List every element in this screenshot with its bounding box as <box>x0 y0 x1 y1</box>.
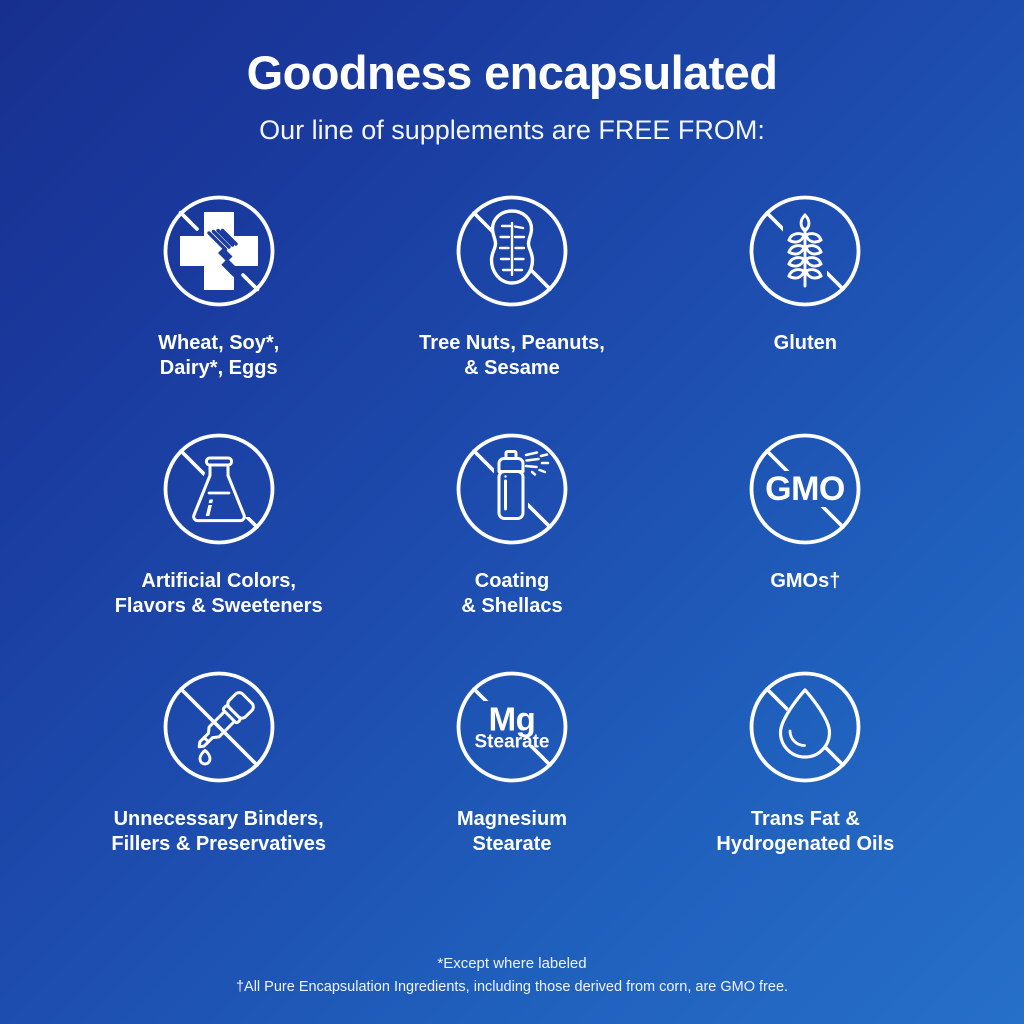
free-from-item-wheat-soy-dairy-eggs: Wheat, Soy*, Dairy*, Eggs <box>72 185 365 423</box>
page-title: Goodness encapsulated <box>0 48 1024 97</box>
free-from-grid: Wheat, Soy*, Dairy*, Eggs <box>72 185 952 899</box>
free-from-item-artificial-colors: Artificial Colors, Flavors & Sweeteners <box>72 423 365 661</box>
free-from-label: Trans Fat & Hydrogenated Oils <box>716 807 894 858</box>
free-from-item-gmos: GMO GMOs† <box>659 423 952 661</box>
free-from-item-tree-nuts-peanuts-sesame: Tree Nuts, Peanuts, & Sesame <box>365 185 658 423</box>
page-subtitle: Our line of supplements are FREE FROM: <box>0 114 1024 146</box>
footnote-asterisk: *Except where labeled <box>0 952 1024 975</box>
poster-root: Goodness encapsulated Our line of supple… <box>0 0 1024 1024</box>
header: Goodness encapsulated Our line of supple… <box>0 0 1024 147</box>
free-from-label: GMOs† <box>770 569 840 595</box>
no-magnesium-stearate-icon: Mg Stearate <box>446 661 578 793</box>
free-from-item-coating-shellacs: Coating & Shellacs <box>365 423 658 661</box>
free-from-label: Artificial Colors, Flavors & Sweeteners <box>115 569 323 620</box>
free-from-label: Wheat, Soy*, Dairy*, Eggs <box>158 331 279 382</box>
footnote-dagger: †All Pure Encapsulation Ingredients, inc… <box>0 976 1024 998</box>
no-fork-cross-icon <box>153 185 285 317</box>
no-spray-can-icon <box>446 423 578 555</box>
no-dropper-icon <box>153 661 285 793</box>
footnotes: *Except where labeled †All Pure Encapsul… <box>0 952 1024 998</box>
free-from-item-gluten: Gluten <box>659 185 952 423</box>
no-water-drop-icon <box>739 661 871 793</box>
free-from-label: Gluten <box>774 331 837 357</box>
gmo-inner-text: GMO <box>765 470 845 508</box>
free-from-item-magnesium-stearate: Mg Stearate Magnesium Stearate <box>365 661 658 899</box>
free-from-item-trans-fat-hydrogenated-oils: Trans Fat & Hydrogenated Oils <box>659 661 952 899</box>
free-from-label: Magnesium Stearate <box>457 807 567 858</box>
no-peanut-icon <box>446 185 578 317</box>
no-flask-icon <box>153 423 285 555</box>
free-from-label: Unnecessary Binders, Fillers & Preservat… <box>111 807 326 858</box>
no-gmo-icon: GMO <box>739 423 871 555</box>
free-from-label: Tree Nuts, Peanuts, & Sesame <box>419 331 605 382</box>
free-from-item-binders-fillers-preservatives: Unnecessary Binders, Fillers & Preservat… <box>72 661 365 899</box>
free-from-label: Coating & Shellacs <box>461 569 562 620</box>
stearate-inner-text: Stearate <box>474 731 549 752</box>
no-wheat-stalk-icon <box>739 185 871 317</box>
